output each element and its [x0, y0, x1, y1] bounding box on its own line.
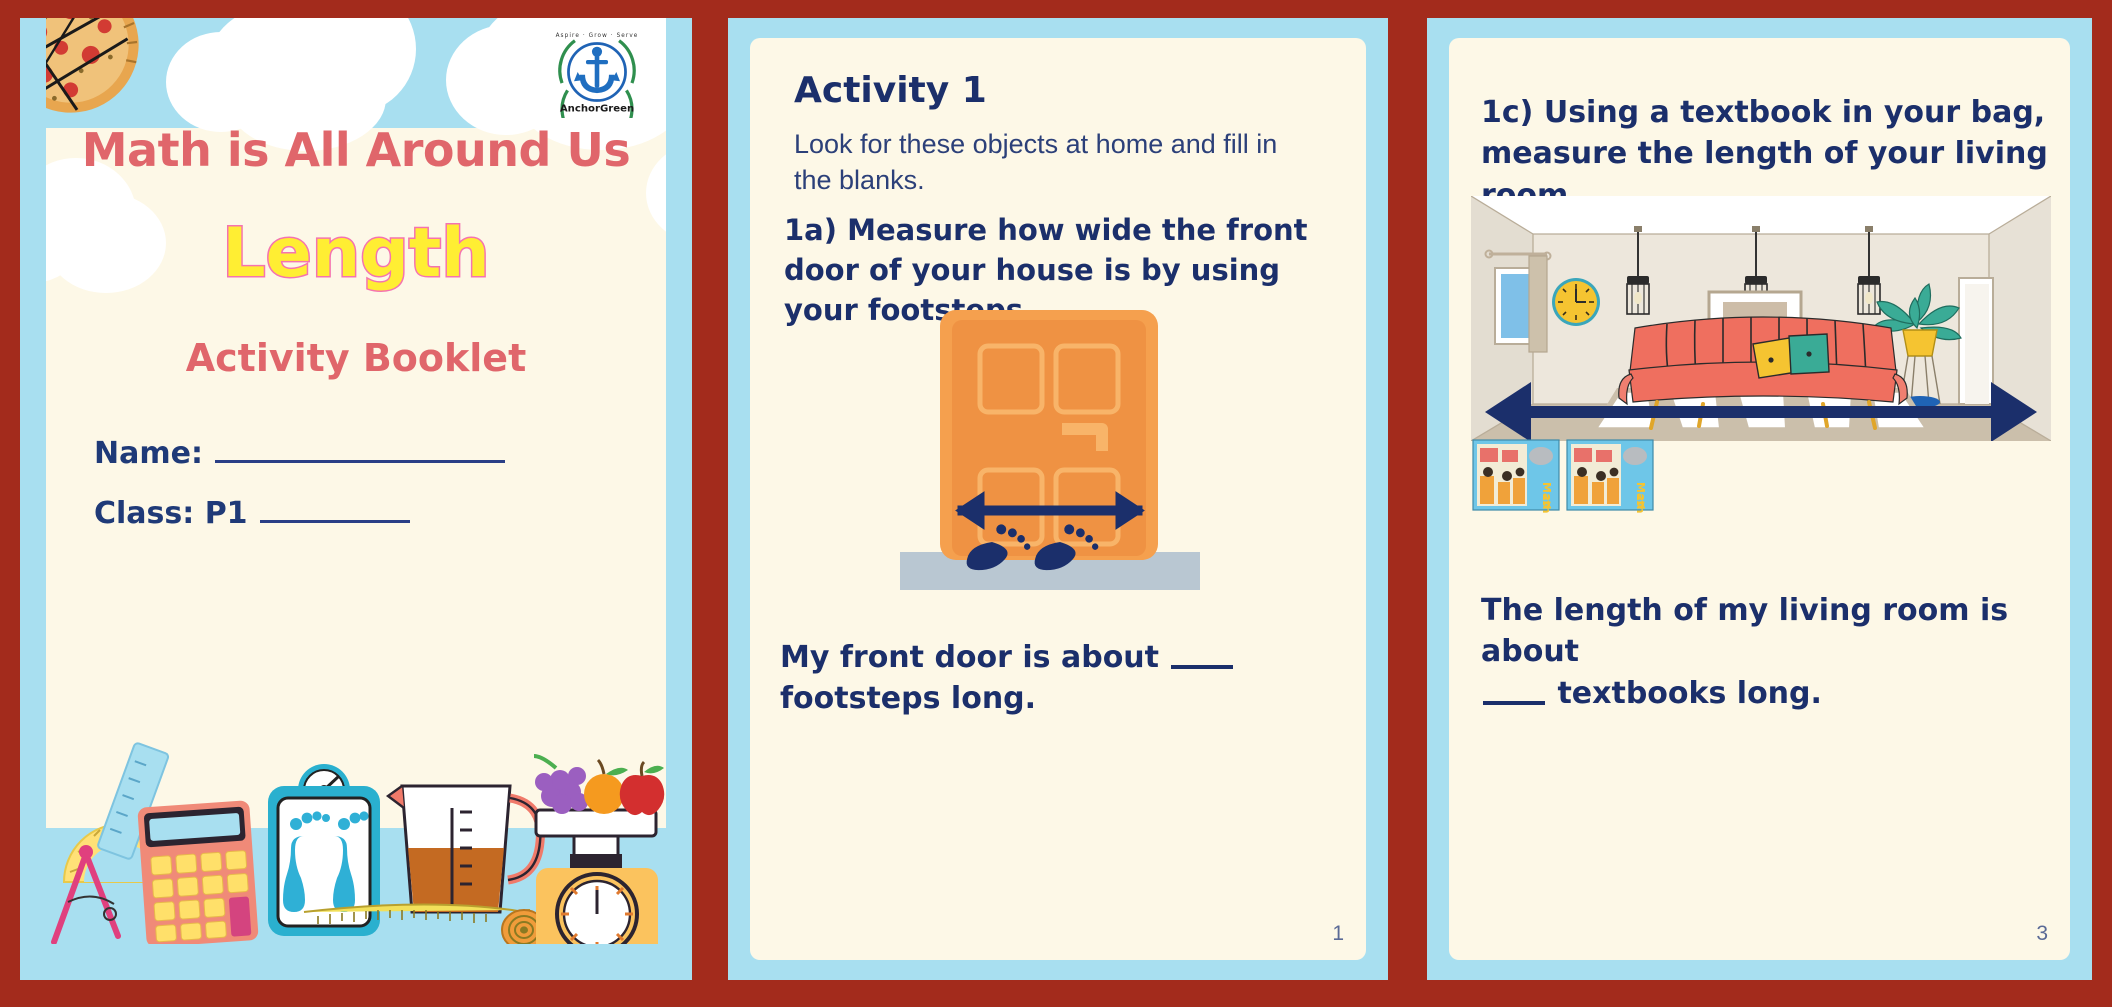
name-field-row[interactable]: Name:	[94, 436, 505, 471]
living-room-illustration	[1471, 196, 2051, 441]
measuring-tools-illustration	[46, 714, 666, 944]
activity1-page: Activity 1 Look for these objects at hom…	[750, 38, 1366, 960]
cover-page: Aspire · Grow · Serve AnchorGreen	[46, 18, 666, 948]
svg-text:AnchorGreen: AnchorGreen	[560, 104, 634, 115]
textbooks-illustration: Maths 2A Maths 2A	[1471, 436, 1656, 514]
question-1a-label: 1a)	[784, 213, 837, 247]
cover-title: Math is All Around Us	[46, 123, 666, 177]
class-label: Class: P1	[94, 496, 248, 531]
name-input-line[interactable]	[215, 459, 505, 463]
svg-text:2A: 2A	[1540, 494, 1551, 509]
question-1c-label: 1c)	[1481, 95, 1533, 130]
answer-suffix: textbooks long.	[1557, 676, 1821, 711]
activity3-page: 1c) Using a textbook in your bag, measur…	[1449, 38, 2070, 960]
answer-line-1c[interactable]: The length of my living room is about te…	[1481, 590, 2061, 714]
answer-blank[interactable]	[1171, 663, 1233, 669]
page-number: 1	[1332, 922, 1344, 946]
slide-cover[interactable]: Aspire · Grow · Serve AnchorGreen	[20, 18, 692, 980]
activity-title: Activity 1	[794, 70, 987, 111]
svg-text:2A: 2A	[1634, 494, 1645, 509]
slide-activity-1c[interactable]: 1c) Using a textbook in your bag, measur…	[1427, 18, 2092, 980]
class-input-line[interactable]	[260, 519, 410, 523]
anchorgreen-logo: Aspire · Grow · Serve AnchorGreen	[551, 26, 643, 118]
cloud-center	[166, 18, 426, 134]
pizza-icon	[46, 18, 162, 128]
answer-suffix: footsteps long.	[780, 681, 1036, 716]
activity-intro: Look for these objects at home and fill …	[794, 126, 1304, 199]
slide-deck: Aspire · Grow · Serve AnchorGreen	[0, 0, 2112, 1007]
svg-text:Aspire · Grow · Serve: Aspire · Grow · Serve	[556, 33, 639, 39]
answer-prefix: My front door is about	[780, 640, 1159, 675]
answer-line-1a[interactable]: My front door is about footsteps long.	[780, 638, 1350, 719]
answer-blank[interactable]	[1483, 699, 1545, 705]
page-number: 3	[2036, 922, 2048, 946]
cover-booklet-label: Activity Booklet	[46, 336, 666, 380]
class-field-row[interactable]: Class: P1	[94, 496, 410, 531]
slide-activity-1a[interactable]: Activity 1 Look for these objects at hom…	[728, 18, 1388, 980]
answer-prefix: The length of my living room is about	[1481, 593, 2008, 669]
front-door-illustration	[900, 310, 1200, 590]
cover-subject: Length	[46, 214, 666, 293]
name-label: Name:	[94, 436, 203, 471]
